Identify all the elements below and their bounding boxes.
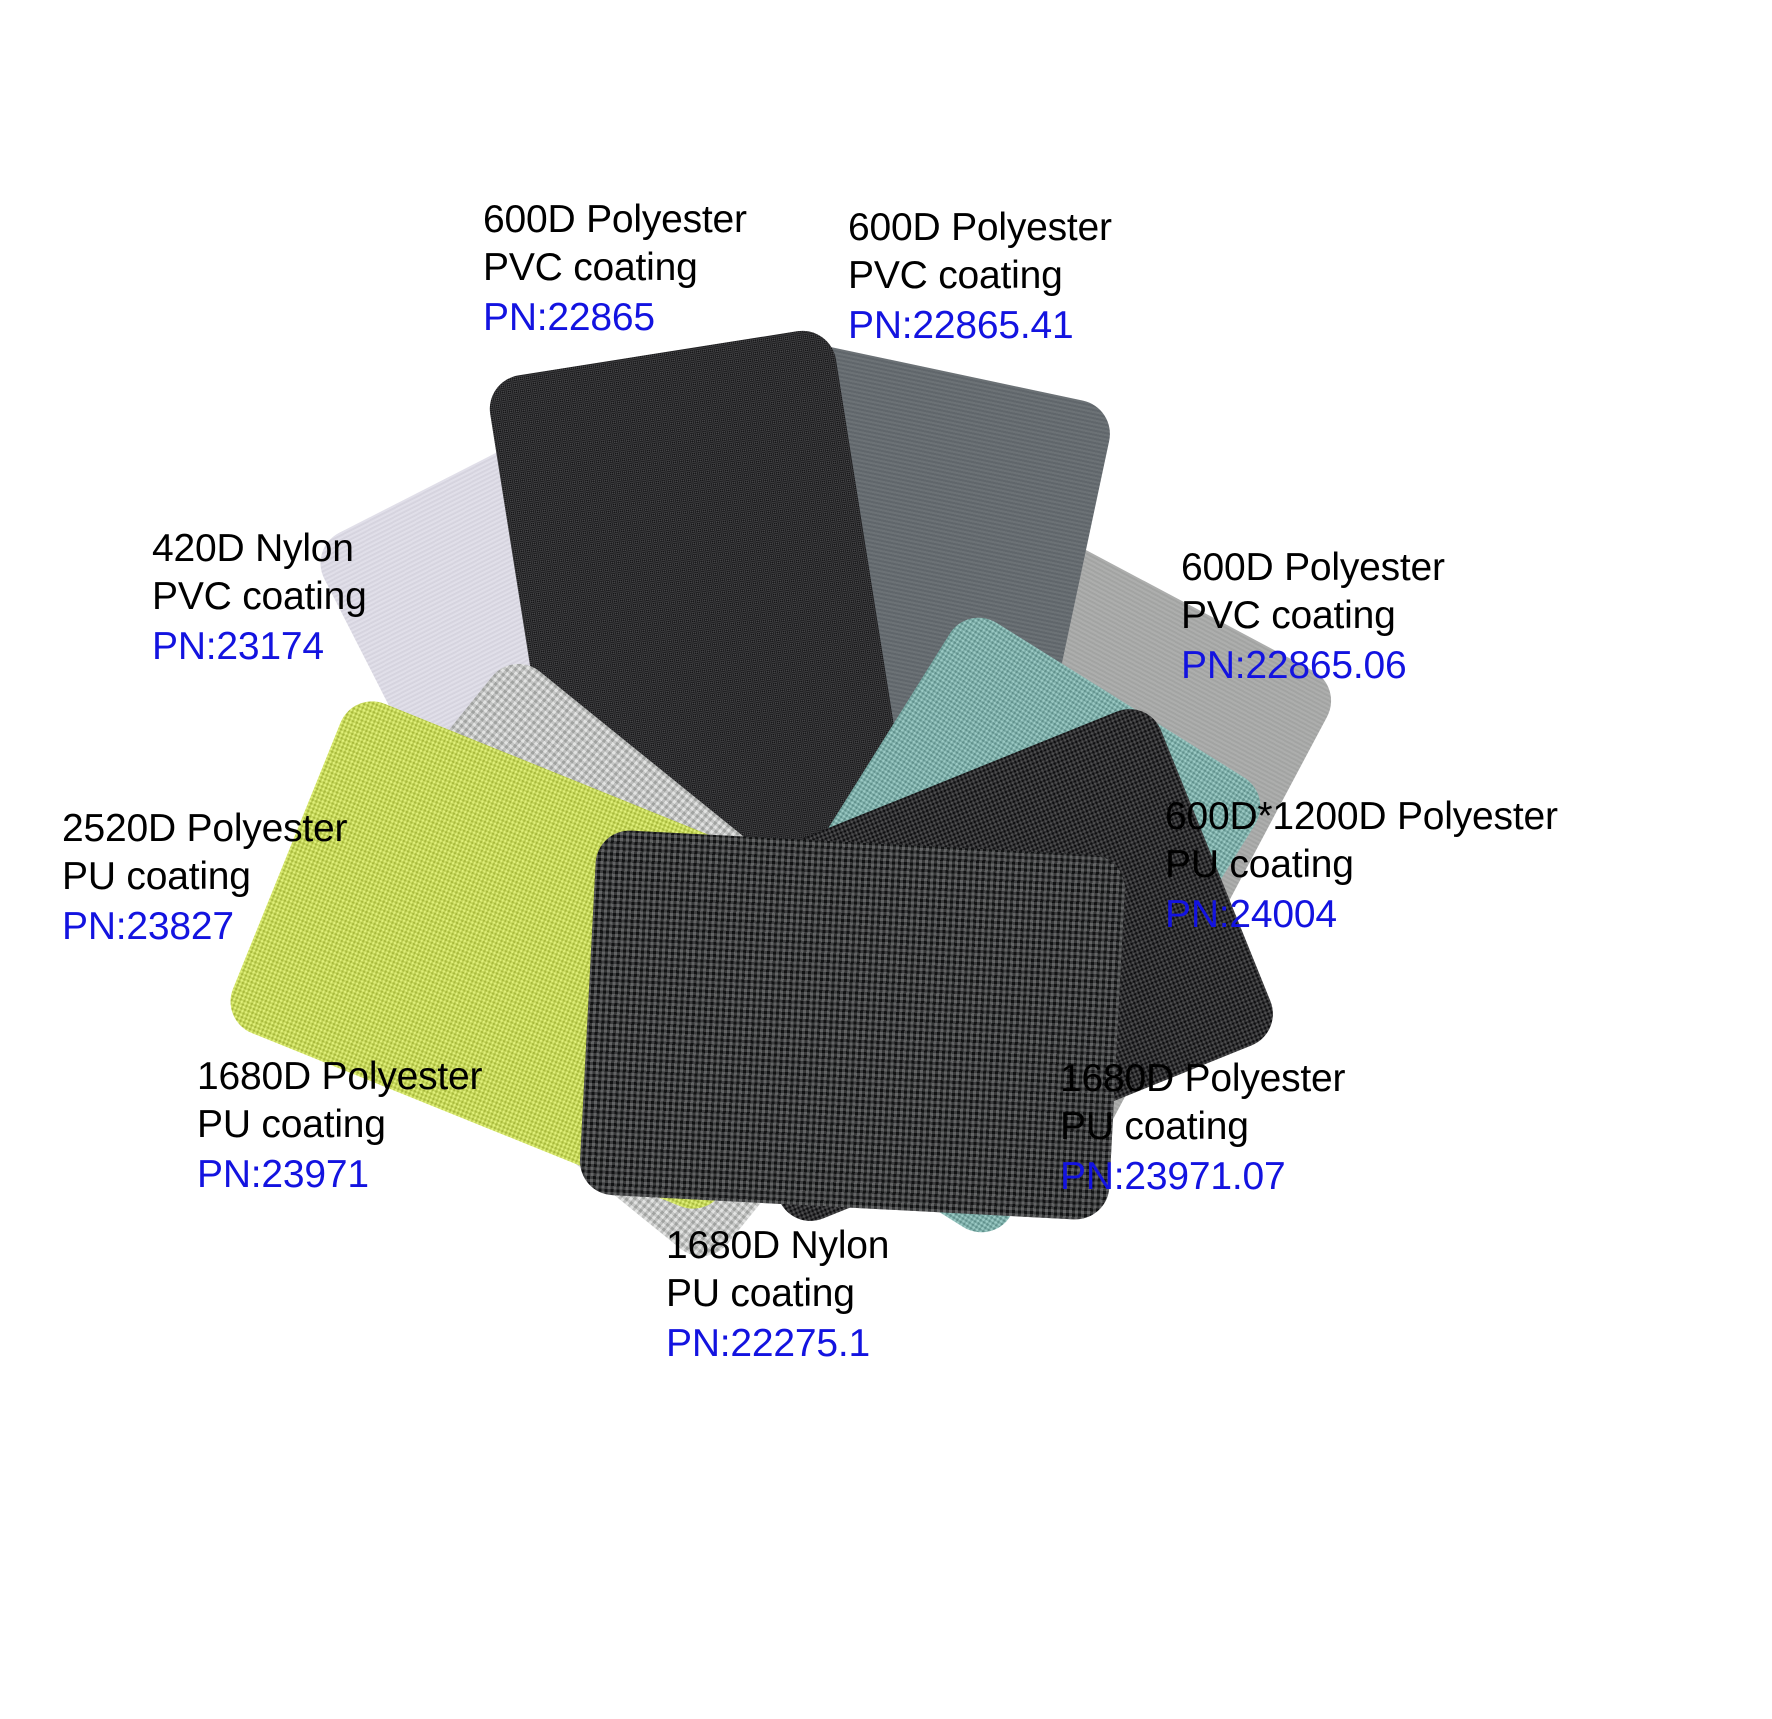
label-material: 2520D Polyester <box>62 805 347 853</box>
swatch-texture <box>578 829 1126 1221</box>
label-pn: PN:23971 <box>197 1151 482 1199</box>
label-pn: PN:23174 <box>152 623 367 671</box>
label-pn: PN:22275.1 <box>666 1320 889 1368</box>
label-pn: PN:22865 <box>483 294 747 342</box>
label-pn: PN:22865.06 <box>1181 642 1445 690</box>
label-pn: PN:22865.41 <box>848 302 1112 350</box>
label-material: 1680D Polyester <box>197 1053 482 1101</box>
label-coating: PVC coating <box>848 252 1112 300</box>
label-material: 1680D Nylon <box>666 1222 889 1270</box>
label-lightgray-pvc-600d: 600D Polyester PVC coating PN:22865.06 <box>1181 544 1445 690</box>
label-teal-pu-600x1200: 600D*1200D Polyester PU coating PN:24004 <box>1165 793 1558 939</box>
label-black-pvc-600d: 600D Polyester PVC coating PN:22865 <box>483 196 747 342</box>
label-coating: PU coating <box>1165 841 1558 889</box>
label-black-nylon-1680d: 1680D Nylon PU coating PN:22275.1 <box>666 1222 889 1368</box>
label-coating: PVC coating <box>1181 592 1445 640</box>
label-white-pu-1680d: 1680D Polyester PU coating PN:23971 <box>197 1053 482 1199</box>
label-coating: PVC coating <box>152 573 367 621</box>
label-material: 600D*1200D Polyester <box>1165 793 1558 841</box>
label-pn: PN:24004 <box>1165 891 1558 939</box>
label-material: 600D Polyester <box>848 204 1112 252</box>
label-lime-pu-2520d: 2520D Polyester PU coating PN:23827 <box>62 805 347 951</box>
label-material: 420D Nylon <box>152 525 367 573</box>
label-material: 600D Polyester <box>483 196 747 244</box>
label-coating: PU coating <box>1060 1103 1345 1151</box>
label-lavender-pvc-420d: 420D Nylon PVC coating PN:23174 <box>152 525 367 671</box>
fabric-swatch-chart: 600D Polyester PVC coating PN:22865 600D… <box>0 0 1772 1719</box>
label-material: 1680D Polyester <box>1060 1055 1345 1103</box>
label-pn: PN:23971.07 <box>1060 1153 1345 1201</box>
label-black-pu-1680d-07: 1680D Polyester PU coating PN:23971.07 <box>1060 1055 1345 1201</box>
label-coating: PVC coating <box>483 244 747 292</box>
label-coating: PU coating <box>666 1270 889 1318</box>
label-darkgray-pvc-600d: 600D Polyester PVC coating PN:22865.41 <box>848 204 1112 350</box>
label-coating: PU coating <box>62 853 347 901</box>
label-pn: PN:23827 <box>62 903 347 951</box>
swatch-black-nylon-1680d[interactable] <box>578 829 1126 1221</box>
label-coating: PU coating <box>197 1101 482 1149</box>
label-material: 600D Polyester <box>1181 544 1445 592</box>
